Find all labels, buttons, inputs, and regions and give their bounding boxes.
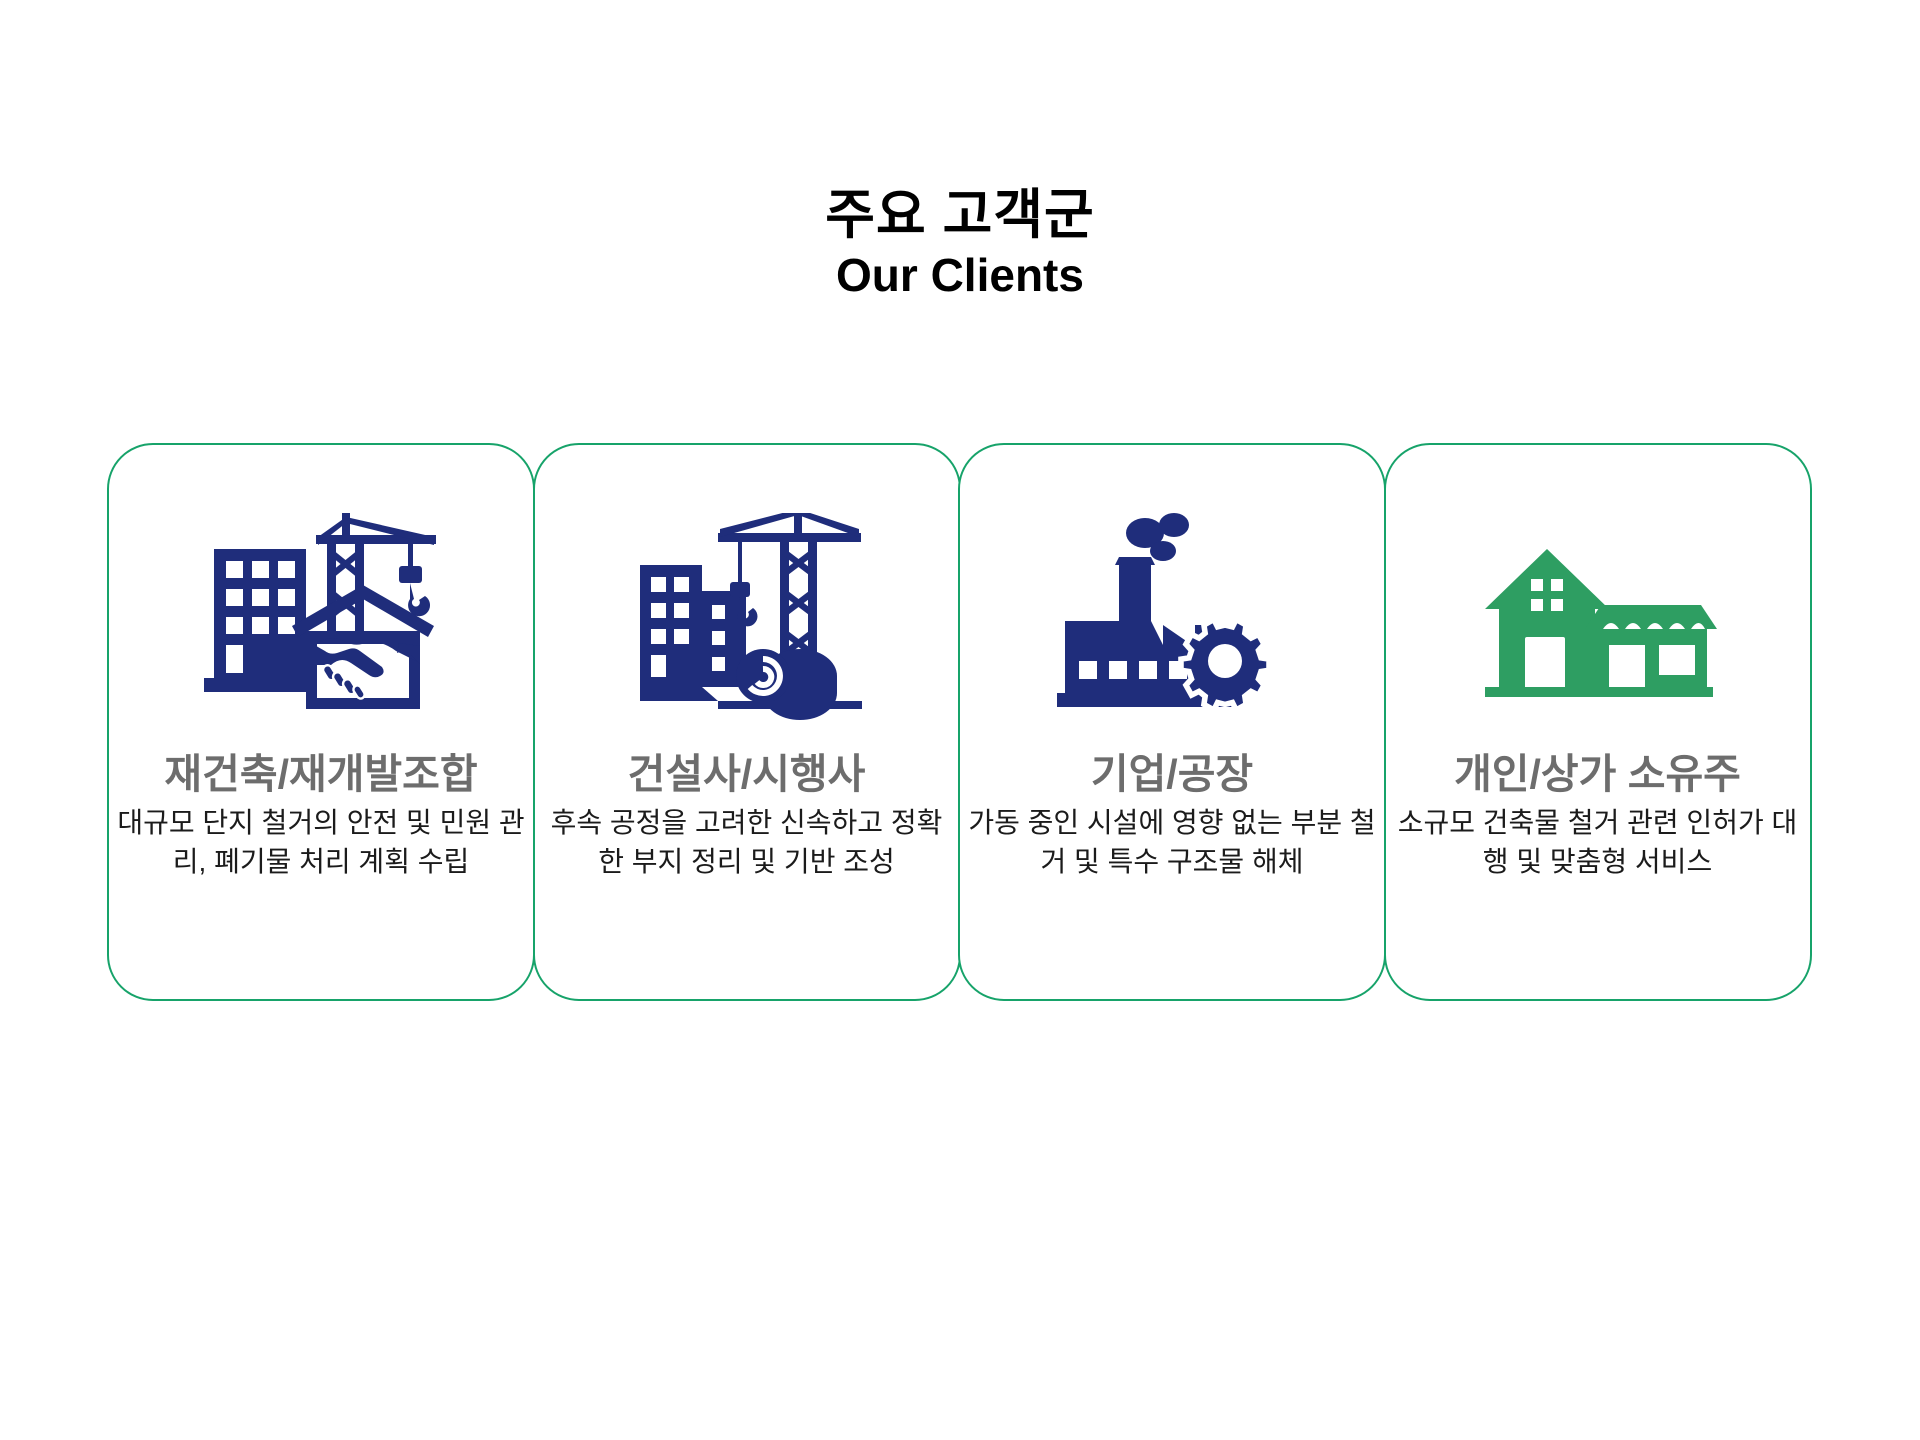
slide-root: 주요 고객군 Our Clients xyxy=(0,0,1920,1440)
card-body: 소규모 건축물 철거 관련 인허가 대행 및 맞춤형 서비스 xyxy=(1388,804,1808,881)
client-card-construction[interactable]: 건설사/시행사 후속 공정을 고려한 신속하고 정확한 부지 정리 및 기반 조… xyxy=(533,443,961,1001)
client-card-redevelopment[interactable]: 재건축/재개발조합 대규모 단지 철거의 안전 및 민원 관리, 폐기물 처리 … xyxy=(107,443,535,1001)
card-title: 재건축/재개발조합 xyxy=(164,751,477,798)
slide-header: 주요 고객군 Our Clients xyxy=(0,185,1920,302)
client-card-individual-owner[interactable]: 개인/상가 소유주 소규모 건축물 철거 관련 인허가 대행 및 맞춤형 서비스 xyxy=(1384,443,1812,1001)
client-card-factory[interactable]: 기업/공장 가동 중인 시설에 영향 없는 부분 철거 및 특수 구조물 해체 xyxy=(958,443,1386,1001)
card-body: 가동 중인 시설에 영향 없는 부분 철거 및 특수 구조물 해체 xyxy=(962,804,1382,881)
card-body: 후속 공정을 고려한 신속하고 정확한 부지 정리 및 기반 조성 xyxy=(537,804,957,881)
construction-crane-site-icon xyxy=(611,507,883,743)
card-title: 기업/공장 xyxy=(1091,751,1253,798)
house-storefront-icon xyxy=(1462,507,1734,743)
client-cards-row: 재건축/재개발조합 대규모 단지 철거의 안전 및 민원 관리, 폐기물 처리 … xyxy=(107,443,1819,1001)
building-crane-handshake-icon xyxy=(185,507,457,743)
card-title: 건설사/시행사 xyxy=(628,751,866,798)
factory-gear-icon xyxy=(1036,507,1308,743)
card-body: 대규모 단지 철거의 안전 및 민원 관리, 폐기물 처리 계획 수립 xyxy=(111,804,531,881)
page-title-ko: 주요 고객군 xyxy=(0,185,1920,245)
card-title: 개인/상가 소유주 xyxy=(1454,751,1741,798)
page-title-en: Our Clients xyxy=(0,249,1920,302)
